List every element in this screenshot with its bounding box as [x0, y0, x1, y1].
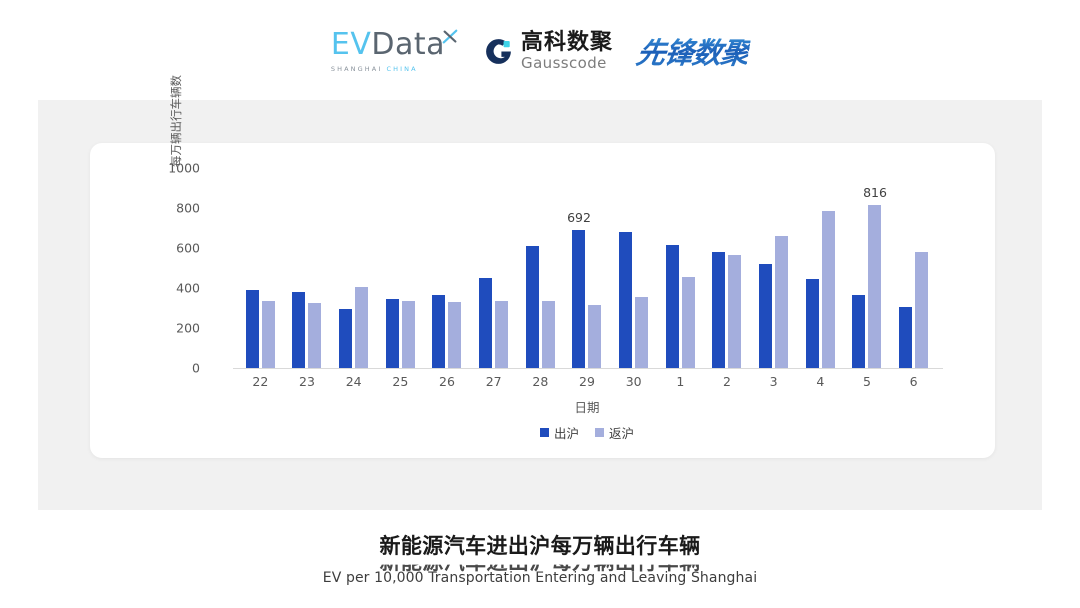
evdata-data-text: Data: [371, 27, 445, 62]
chart-legend: 出沪返沪: [237, 423, 937, 442]
x-axis-tick-label: 3: [750, 374, 797, 389]
y-axis-tick-label: 800: [154, 201, 200, 216]
gausscode-cn-name: 高科数聚: [521, 32, 613, 54]
y-axis-tick-label: 0: [154, 361, 200, 376]
legend-label: 返沪: [609, 423, 634, 442]
logo-gausscode: 高科数聚 Gausscode: [483, 32, 613, 71]
legend-item[interactable]: 返沪: [595, 423, 634, 442]
x-axis-tick-label: 23: [284, 374, 331, 389]
evdata-tagline-china: CHINA: [387, 65, 418, 73]
gausscode-en-name: Gausscode: [521, 56, 613, 71]
x-axis-tick-label: 30: [610, 374, 657, 389]
logo-bar: EVData SHANGHAI CHINA 高科数聚 Gausscode: [0, 18, 1080, 84]
evdata-wordmark: EVData: [331, 30, 445, 60]
x-axis-title: 日期: [237, 397, 937, 416]
x-mark-icon: [441, 28, 459, 46]
figure-caption: 新能源汽车进出沪每万辆出行车辆 新能源汽车进出沪每万辆出行车辆 EV per 1…: [0, 530, 1080, 586]
legend-item[interactable]: 出沪: [540, 423, 579, 442]
bar-chart: 每万辆出行车辆数 10008006004002000 692816 222324…: [90, 143, 995, 458]
y-axis-tick-label: 400: [154, 281, 200, 296]
y-axis-tick-label: 1000: [154, 161, 200, 176]
legend-label: 出沪: [554, 423, 579, 442]
y-axis-tick-label: 200: [154, 321, 200, 336]
logo-evdata: EVData SHANGHAI CHINA: [331, 30, 459, 73]
gausscode-g-mark-icon: [483, 36, 514, 67]
x-axis-tick-label: 22: [237, 374, 284, 389]
x-axis-tick-label: 26: [424, 374, 471, 389]
legend-swatch-icon: [595, 428, 604, 437]
chart-card: 每万辆出行车辆数 10008006004002000 692816 222324…: [90, 143, 995, 458]
logo-xianfeng: 先锋数聚: [637, 30, 749, 72]
evdata-tagline-shanghai: SHANGHAI: [331, 65, 382, 73]
xianfeng-wordmark: 先锋数聚: [634, 30, 753, 72]
x-axis-tick-label: 29: [564, 374, 611, 389]
legend-swatch-icon: [540, 428, 549, 437]
evdata-tagline: SHANGHAI CHINA: [331, 65, 418, 73]
caption-cn-title: 新能源汽车进出沪每万辆出行车辆: [0, 530, 1080, 560]
x-axis-tick-label: 24: [330, 374, 377, 389]
x-axis-tick-label: 5: [844, 374, 891, 389]
x-axis-tick-label: 2: [704, 374, 751, 389]
y-axis-ticks: 10008006004002000: [154, 143, 200, 458]
x-axis-tick-label: 25: [377, 374, 424, 389]
x-axis-tick-label: 27: [470, 374, 517, 389]
x-axis-tick-label: 4: [797, 374, 844, 389]
y-axis-tick-label: 600: [154, 241, 200, 256]
gausscode-text-block: 高科数聚 Gausscode: [521, 32, 613, 71]
x-axis-tick-label: 28: [517, 374, 564, 389]
x-axis-tick-label: 6: [890, 374, 937, 389]
slide-page: EVData SHANGHAI CHINA 高科数聚 Gausscode: [0, 0, 1080, 608]
x-axis-tick-label: 1: [657, 374, 704, 389]
evdata-ev-text: EV: [331, 27, 371, 62]
